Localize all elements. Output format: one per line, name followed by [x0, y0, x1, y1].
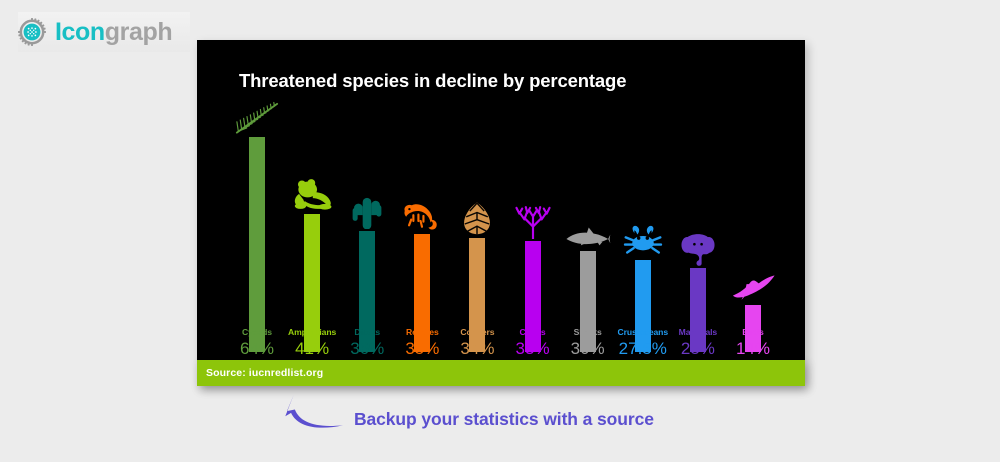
bar-group-reptiles[interactable]: [396, 102, 448, 352]
category-name: Amphibians: [286, 328, 338, 337]
bar-group-mammals[interactable]: [672, 102, 724, 352]
infographic-card: Threatened species in decline by percent…: [197, 40, 805, 385]
source-strip: Source: iucnredlist.org: [197, 360, 805, 386]
category-value: 64%: [231, 340, 283, 358]
category-name: Cycads: [231, 328, 283, 337]
coral-icon: [510, 195, 556, 239]
bar-chart-plot-area: [231, 102, 779, 352]
fern-frond-icon: [234, 91, 280, 135]
bar-group-cycads[interactable]: [231, 102, 283, 352]
bar-group-amphibians[interactable]: [286, 102, 338, 352]
category-name: Sharks: [562, 328, 614, 337]
category-value: 33%: [507, 340, 559, 358]
brand-logo[interactable]: Icongraph: [18, 12, 190, 52]
brand-name-muted: graph: [105, 18, 172, 46]
cactus-icon: [344, 185, 390, 229]
crab-icon: [620, 214, 666, 258]
frog-icon: [289, 168, 335, 212]
pinecone-icon: [454, 192, 500, 236]
bar-group-crustaceans[interactable]: [617, 102, 669, 352]
brand-wordmark: Icongraph: [55, 20, 172, 45]
category-name: Crustaceans: [617, 328, 669, 337]
category-value: 35%: [396, 340, 448, 358]
category-value: 34%: [451, 340, 503, 358]
category-value: 25%: [672, 340, 724, 358]
curved-arrow-up-left-icon: [278, 385, 348, 433]
elephant-icon: [675, 222, 721, 266]
category-name: Conifers: [451, 328, 503, 337]
category-name: Corals: [507, 328, 559, 337]
bird-icon: [730, 259, 776, 303]
category-value: 14%: [727, 340, 779, 358]
bar-rect-cycads[interactable]: [249, 137, 265, 352]
bar-group-corals[interactable]: [507, 102, 559, 352]
chameleon-icon: [399, 188, 445, 232]
bar-group-dicots[interactable]: [341, 102, 393, 352]
category-name: Reptiles: [396, 328, 448, 337]
brand-name-accent: Icon: [55, 18, 105, 46]
bar-group-conifers[interactable]: [451, 102, 503, 352]
shark-icon: [565, 205, 611, 249]
category-value: 41%: [286, 340, 338, 358]
bar-group-sharks[interactable]: [562, 102, 614, 352]
gear-circle-icon: [18, 18, 46, 46]
category-value: 30%: [562, 340, 614, 358]
category-name: Dicots: [341, 328, 393, 337]
source-label: Source: iucnredlist.org: [206, 367, 323, 379]
category-value: 36%: [341, 340, 393, 358]
bar-group-birds[interactable]: [727, 102, 779, 352]
chart-title: Threatened species in decline by percent…: [239, 70, 626, 92]
category-value: 27.5%: [617, 340, 669, 358]
annotation-caption: Backup your statistics with a source: [354, 409, 654, 430]
category-name: Birds: [727, 328, 779, 337]
category-name: Mammals: [672, 328, 724, 337]
